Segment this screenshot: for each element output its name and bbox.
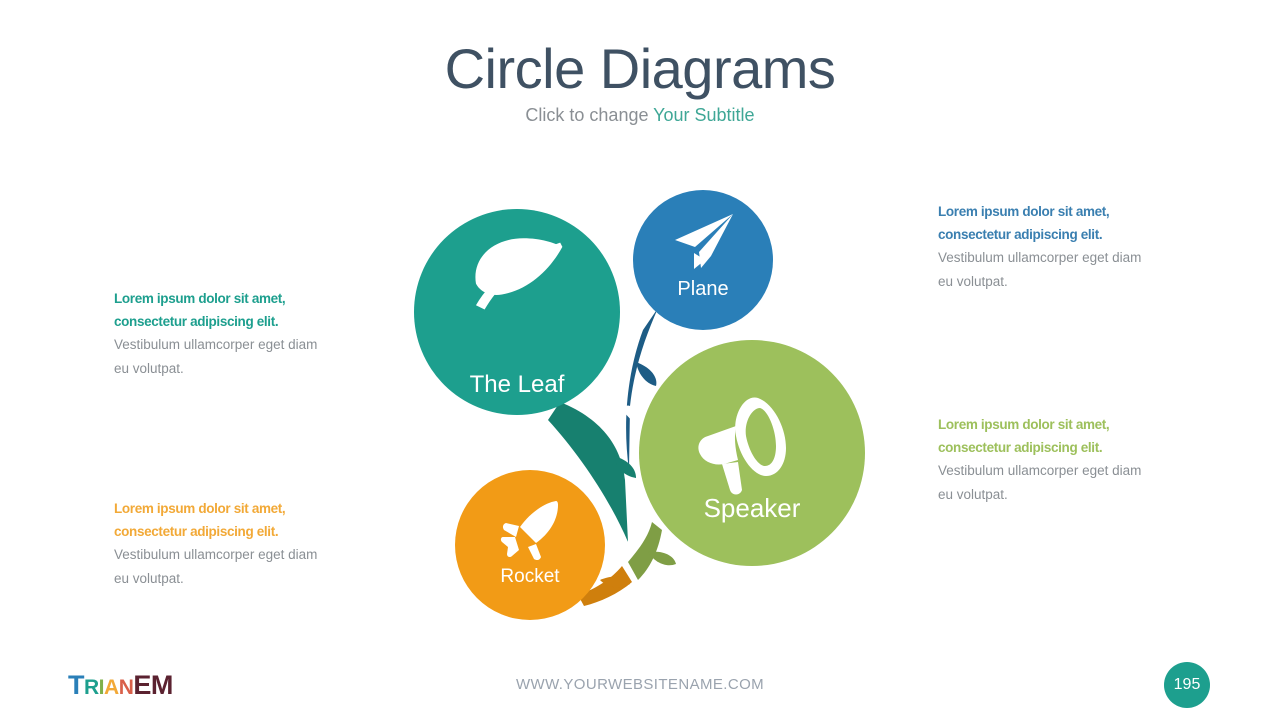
info-block-rocket-heading: Lorem ipsum dolor sit amet, consectetur … <box>114 497 334 543</box>
info-block-leaf-body: Vestibulum ullamcorper eget diam eu volu… <box>114 333 334 379</box>
info-block-speaker-heading: Lorem ipsum dolor sit amet, consectetur … <box>938 413 1158 459</box>
info-block-plane-body: Vestibulum ullamcorper eget diam eu volu… <box>938 246 1158 292</box>
bubble-speaker[interactable]: Speaker <box>639 340 865 566</box>
bubble-speaker-label: Speaker <box>704 493 801 523</box>
subtitle-prefix: Click to change <box>525 105 653 125</box>
bubble-rocket-label: Rocket <box>500 566 560 587</box>
info-block-leaf-heading: Lorem ipsum dolor sit amet, consectetur … <box>114 287 334 333</box>
subtitle-accent: Your Subtitle <box>653 105 754 125</box>
info-block-rocket-body: Vestibulum ullamcorper eget diam eu volu… <box>114 543 334 589</box>
slide-header: Circle Diagrams Click to change Your Sub… <box>0 40 1280 126</box>
info-block-speaker: Lorem ipsum dolor sit amet, consectetur … <box>938 413 1158 506</box>
bubble-leaf[interactable]: The Leaf <box>414 209 620 415</box>
bubble-rocket-circle[interactable] <box>455 470 605 620</box>
info-block-speaker-body: Vestibulum ullamcorper eget diam eu volu… <box>938 459 1158 505</box>
info-block-rocket: Lorem ipsum dolor sit amet, consectetur … <box>114 497 334 590</box>
info-block-plane-heading: Lorem ipsum dolor sit amet, consectetur … <box>938 200 1158 246</box>
bubble-speaker-circle[interactable] <box>639 340 865 566</box>
footer-website-url: WWW.YOURWEBSITENAME.COM <box>0 676 1280 693</box>
circle-diagram: The Leaf Plane Speaker <box>400 170 890 630</box>
bubble-leaf-label: The Leaf <box>470 371 565 398</box>
bubble-rocket[interactable]: Rocket <box>455 470 605 620</box>
info-block-plane: Lorem ipsum dolor sit amet, consectetur … <box>938 200 1158 293</box>
bubble-plane-label: Plane <box>677 278 728 300</box>
bubble-plane[interactable]: Plane <box>633 190 773 330</box>
page-number-badge: 195 <box>1164 662 1210 708</box>
page-subtitle: Click to change Your Subtitle <box>0 105 1280 127</box>
info-block-leaf: Lorem ipsum dolor sit amet, consectetur … <box>114 287 334 380</box>
page-title: Circle Diagrams <box>0 40 1280 99</box>
